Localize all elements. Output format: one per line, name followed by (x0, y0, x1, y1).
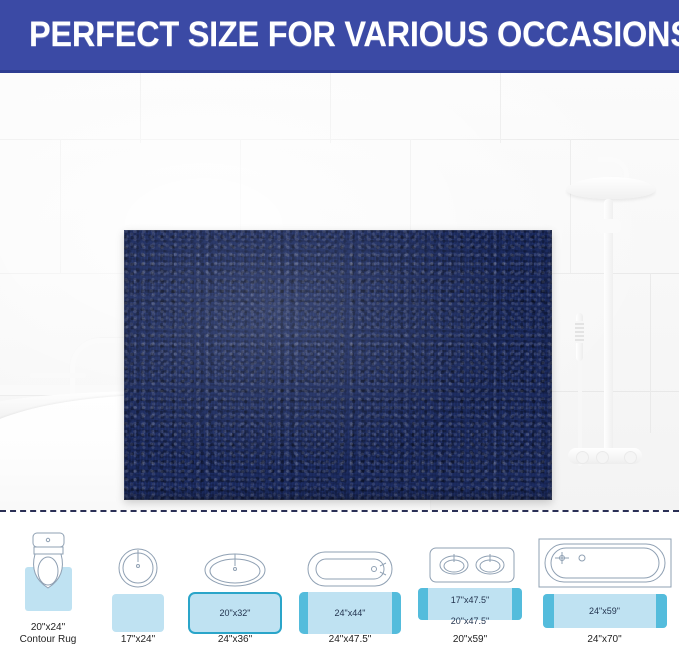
rain-shower-head-icon (567, 177, 655, 199)
size-item-double-sink: 17"x47.5" 20"x47.5" 20"x59" (410, 512, 530, 649)
toilet-icon (9, 527, 87, 622)
shower-riser (604, 199, 613, 461)
header-banner: PERFECT SIZE FOR VARIOUS OCCASIONS (0, 0, 679, 73)
size-chart: 20"x24" Contour Rug 17"x24" (0, 512, 679, 649)
rug-inside-label: 20"x32" (220, 608, 251, 618)
size-caption: 20"x24" (31, 622, 65, 634)
oval-sink-icon (183, 544, 287, 592)
size-caption: 24"x36" (218, 634, 252, 646)
page-title: PERFECT SIZE FOR VARIOUS OCCASIONS (29, 15, 679, 55)
shower-bracket (596, 219, 621, 233)
size-caption-sub: Contour Rug (20, 634, 77, 646)
rug-middle-label: 20"x47.5" (414, 616, 526, 626)
rug-inside-label: 17"x47.5" (451, 595, 489, 605)
navy-bath-rug (124, 230, 552, 500)
round-sink-icon (100, 542, 176, 590)
bathtub-icon (535, 536, 675, 592)
size-caption: 24"x70" (587, 634, 621, 646)
handheld-grip (575, 321, 584, 343)
size-item-toilet: 20"x24" Contour Rug (0, 512, 96, 649)
size-item-round-sink: 17"x24" (96, 512, 180, 649)
size-item-trough-sink: 24"x44" 24"x47.5" (290, 512, 410, 649)
faucet-handle (30, 373, 86, 378)
size-caption: 20"x59" (453, 634, 487, 646)
rug-inside-label: 24"x59" (589, 606, 620, 616)
double-sink-icon (416, 542, 528, 586)
infographic-canvas: PERFECT SIZE FOR VARIOUS OCCASIONS (0, 0, 679, 649)
size-caption: 17"x24" (121, 634, 155, 646)
size-item-bathtub: 24"x59" 24"x70" (530, 512, 679, 649)
rug-inside-label: 24"x44" (335, 608, 366, 618)
size-caption: 24"x47.5" (329, 634, 372, 646)
trough-sink-icon (294, 544, 406, 592)
bathroom-photo (0, 73, 679, 510)
size-item-oval-sink: 20"x32" 24"x36" (180, 512, 290, 649)
